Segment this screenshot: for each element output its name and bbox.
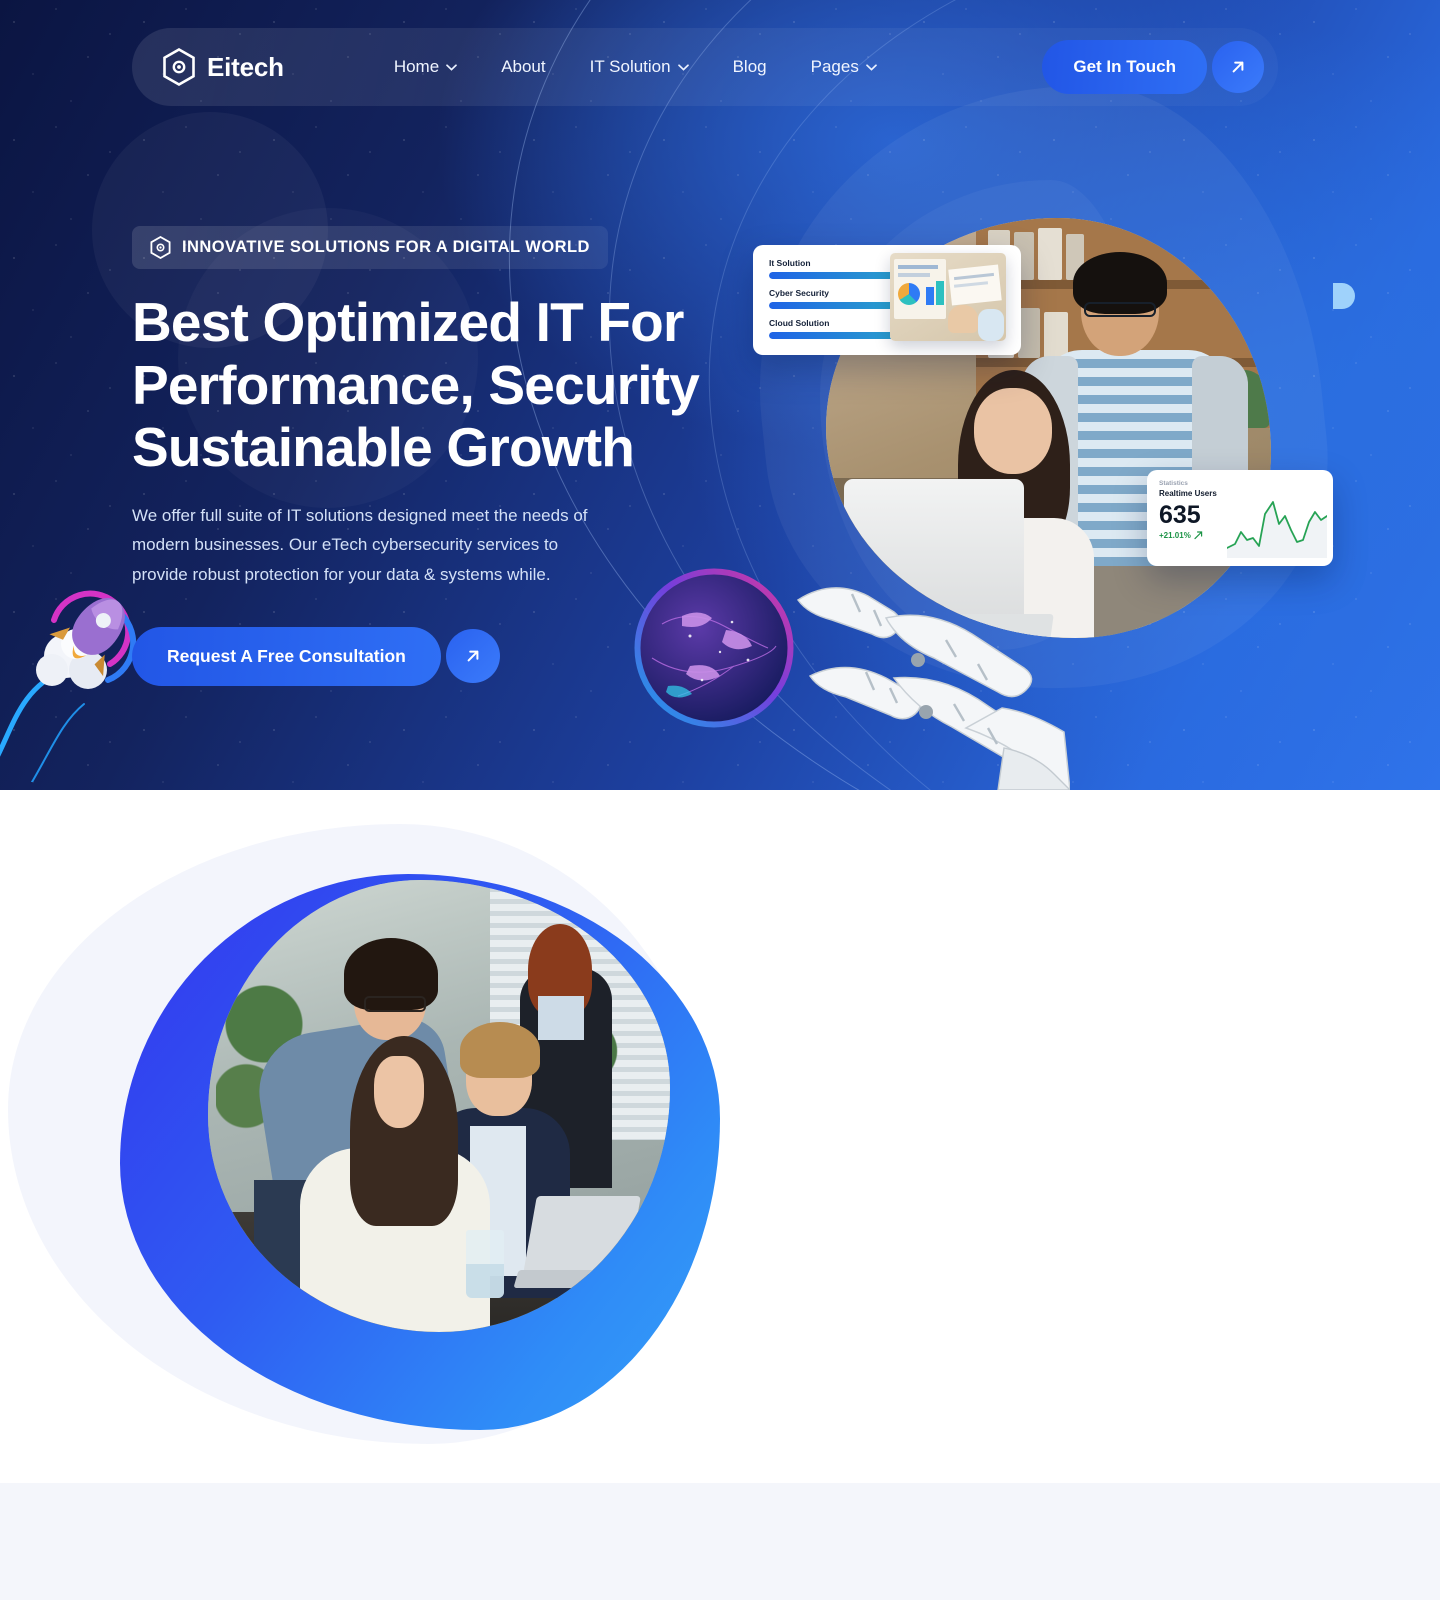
chevron-down-icon [446,64,457,71]
hexagon-logo-icon [150,236,171,259]
hero-title: Best Optimized IT For Performance, Secur… [132,291,752,479]
hero-thumbnail-photo [890,253,1006,341]
statistics-delta-text: +21.01% [1159,531,1191,540]
brand-logo[interactable]: Eitech [162,48,284,86]
hero-request-consultation-button[interactable]: Request A Free Consultation [132,627,441,686]
get-in-touch-arrow-button[interactable] [1212,41,1264,93]
brand-name: Eitech [207,52,284,83]
nav-label: IT Solution [590,57,671,77]
chevron-down-icon [678,64,689,71]
hero-paragraph: We offer full suite of IT solutions desi… [132,501,610,589]
hero-eyebrow-badge: INNOVATIVE SOLUTIONS FOR A DIGITAL WORLD [132,226,608,269]
glasses-icon [1084,302,1156,317]
nav-item-home[interactable]: Home [372,57,479,77]
skill-label: It Solution [769,258,811,268]
statistics-sparkline-chart [1227,494,1327,558]
nav-label: Blog [733,57,767,77]
hero-title-line-1: Best Optimized IT For [132,291,684,353]
statistics-eyebrow: Statistics [1159,480,1321,487]
robotic-hand-illustration [790,560,1070,790]
nav-item-about[interactable]: About [479,57,567,77]
hero-title-line-2: Performance, Security [132,354,699,416]
person-woman-head [974,388,1052,474]
hero-eyebrow-text: INNOVATIVE SOLUTIONS FOR A DIGITAL WORLD [182,238,590,257]
moon-shape-icon [1333,283,1355,309]
trend-up-icon [1194,531,1203,540]
skill-label: Cloud Solution [769,318,829,328]
hero-content: INNOVATIVE SOLUTIONS FOR A DIGITAL WORLD… [132,226,752,686]
hexagon-logo-icon [162,48,196,86]
hero-request-consultation-arrow-button[interactable] [446,629,500,683]
hero-cta-group: Request A Free Consultation [132,627,752,686]
hero-statistics-card: Statistics Realtime Users 635 +21.01% [1147,470,1333,566]
arrow-up-right-icon [464,647,482,665]
nav-label: Pages [811,57,859,77]
skill-label: Cyber Security [769,288,829,298]
site-header: Eitech Home About IT Solution Blog Pages [132,28,1278,106]
nav-item-blog[interactable]: Blog [711,57,789,77]
main-nav: Home About IT Solution Blog Pages [372,57,899,77]
nav-label: Home [394,57,439,77]
hero-title-line-3: Sustainable Growth [132,416,634,478]
chevron-down-icon [866,64,877,71]
get-in-touch-button[interactable]: Get In Touch [1042,40,1207,94]
meeting-scene [208,880,670,1332]
hero-section: Eitech Home About IT Solution Blog Pages [0,0,1440,790]
nav-item-it-solution[interactable]: IT Solution [568,57,711,77]
arrow-up-right-icon [1229,58,1247,76]
nav-label: About [501,57,545,77]
about-team-photo [208,880,670,1332]
footer-strip [0,1483,1440,1600]
header-cta-group: Get In Touch [1042,40,1264,94]
nav-item-pages[interactable]: Pages [789,57,899,77]
